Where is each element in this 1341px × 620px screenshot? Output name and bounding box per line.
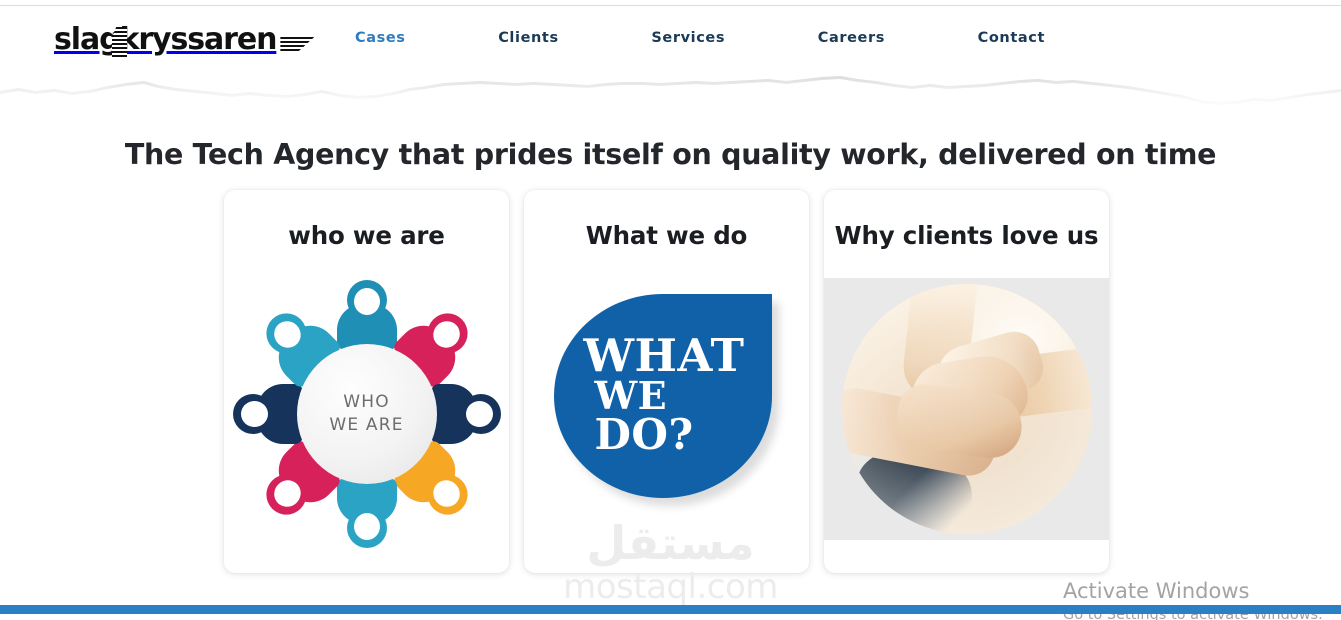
card-media: WHO WE ARE [224, 268, 509, 568]
nav-item-contact[interactable]: Contact [978, 30, 1045, 46]
page-title: The Tech Agency that prides itself on qu… [0, 138, 1341, 171]
what-we-do-badge-icon: WHAT WE DO? [554, 294, 780, 506]
logo-wordmark: slagkryssaren [54, 25, 276, 55]
circle-of-people-icon: WHO WE ARE [231, 278, 503, 550]
activate-windows-title: Activate Windows [1063, 578, 1341, 604]
logo-text-left: slag [54, 22, 119, 57]
badge-line-3: DO? [595, 415, 745, 456]
nav-item-cases[interactable]: Cases [355, 30, 406, 46]
who-line-2: WE ARE [329, 414, 403, 437]
card-who-we-are[interactable]: who we are [224, 190, 509, 573]
card-title: who we are [224, 221, 509, 250]
who-we-are-center-label: WHO WE ARE [297, 344, 437, 484]
logo-wing-icon [280, 37, 314, 53]
nav-item-services[interactable]: Services [651, 30, 725, 46]
card-why-clients-love-us[interactable]: Why clients love us [824, 190, 1109, 573]
card-title: Why clients love us [824, 221, 1109, 250]
nav-item-clients[interactable]: Clients [498, 30, 559, 46]
stacked-hands-photo [842, 284, 1092, 534]
card-title: What we do [524, 221, 809, 250]
what-we-do-text: WHAT WE DO? [584, 334, 745, 455]
who-line-1: WHO [343, 391, 390, 414]
page-root: slagkryssaren Cases Clients Services Car… [0, 0, 1341, 620]
badge-line-2: WE [595, 378, 745, 415]
badge-line-1: WHAT [584, 334, 745, 378]
nav-item-careers[interactable]: Careers [818, 30, 885, 46]
feature-card-grid: who we are [0, 190, 1341, 580]
logo-text-right: kryssaren [119, 22, 276, 57]
card-what-we-do[interactable]: What we do WHAT WE DO? [524, 190, 809, 573]
main-navigation: Cases Clients Services Careers Contact [355, 30, 1045, 46]
card-media [824, 278, 1109, 540]
site-header: slagkryssaren Cases Clients Services Car… [0, 6, 1341, 78]
bottom-accent-bar [0, 605, 1341, 614]
site-logo[interactable]: slagkryssaren [54, 20, 276, 60]
card-media: WHAT WE DO? [524, 268, 809, 568]
